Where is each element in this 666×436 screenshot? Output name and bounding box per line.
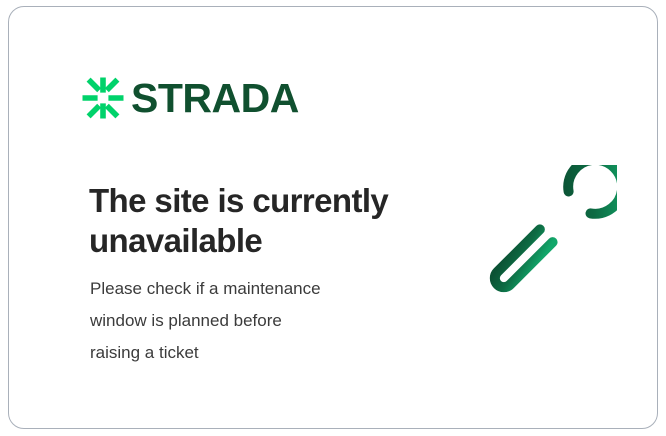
brand-wordmark: STRADA	[131, 78, 299, 119]
description-line: raising a ticket	[90, 337, 400, 369]
status-card: STRADA The site is currently unavailable…	[8, 6, 658, 429]
status-description: Please check if a maintenance window is …	[90, 273, 400, 369]
page-title: The site is currently unavailable	[89, 181, 419, 261]
description-line: window is planned before	[90, 305, 400, 337]
page-root: STRADA The site is currently unavailable…	[0, 0, 666, 436]
description-line: Please check if a maintenance	[90, 273, 400, 305]
brand-logo: STRADA	[81, 73, 299, 123]
wrench-icon	[467, 165, 617, 315]
strada-asterisk-icon	[81, 76, 125, 120]
